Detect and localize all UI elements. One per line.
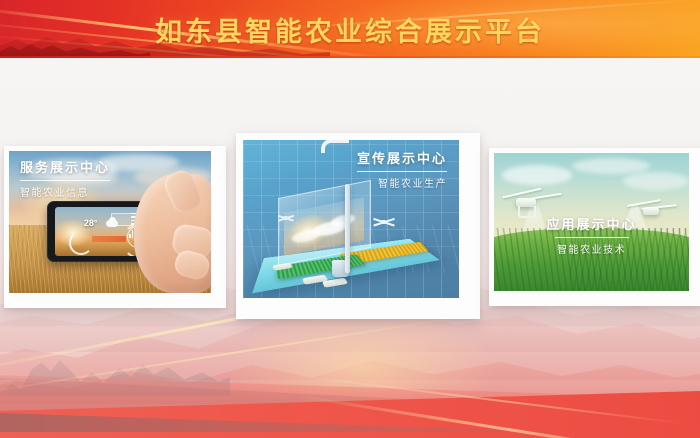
lamp-post xyxy=(345,184,350,272)
card-application-title: 应用展示中心 xyxy=(494,217,689,233)
lamp-arm xyxy=(321,140,349,153)
card-service-text: 服务展示中心 智能农业信息 xyxy=(20,160,110,199)
cloud xyxy=(623,172,689,190)
card-promotion-center[interactable]: 宣传展示中心 智能农业生产 xyxy=(236,133,480,319)
title-rule xyxy=(20,180,110,181)
cloud xyxy=(572,158,650,174)
card-application-subtitle: 智能农业技术 xyxy=(494,241,689,256)
hud-ring-left xyxy=(69,231,93,255)
card-service-center[interactable]: 28° xyxy=(4,146,226,308)
drone-icon xyxy=(502,183,562,217)
card-application-image: 应用展示中心 智能农业技术 xyxy=(494,153,689,291)
page-title: 如东县智能农业综合展示平台 xyxy=(0,0,700,58)
card-promotion-image: 宣传展示中心 智能农业生产 xyxy=(243,140,459,298)
card-promotion-subtitle: 智能农业生产 xyxy=(357,175,447,190)
card-service-title: 服务展示中心 xyxy=(20,160,110,176)
panel-sky-scene xyxy=(284,196,364,255)
hud-data-chip xyxy=(92,236,126,242)
page-header: 如东县智能农业综合展示平台 xyxy=(0,0,700,58)
card-application-center[interactable]: 应用展示中心 智能农业技术 xyxy=(489,148,700,306)
drone-icon xyxy=(278,213,294,223)
card-promotion-text: 宣传展示中心 智能农业生产 xyxy=(357,151,447,190)
header-bottom-edge xyxy=(0,56,700,58)
card-service-subtitle: 智能农业信息 xyxy=(20,184,110,199)
card-promotion-title: 宣传展示中心 xyxy=(357,151,447,167)
card-application-text: 应用展示中心 智能农业技术 xyxy=(494,217,689,256)
drone-icon xyxy=(373,216,395,228)
cloud xyxy=(502,165,572,184)
page-root: 如东县智能农业综合展示平台 28° xyxy=(0,0,700,438)
title-rule xyxy=(555,237,629,238)
finger xyxy=(161,167,204,216)
temperature-readout: 28° xyxy=(84,218,98,228)
hand xyxy=(134,174,211,293)
card-service-image: 28° xyxy=(9,151,211,293)
cloud xyxy=(330,213,354,227)
title-rule xyxy=(357,171,447,172)
